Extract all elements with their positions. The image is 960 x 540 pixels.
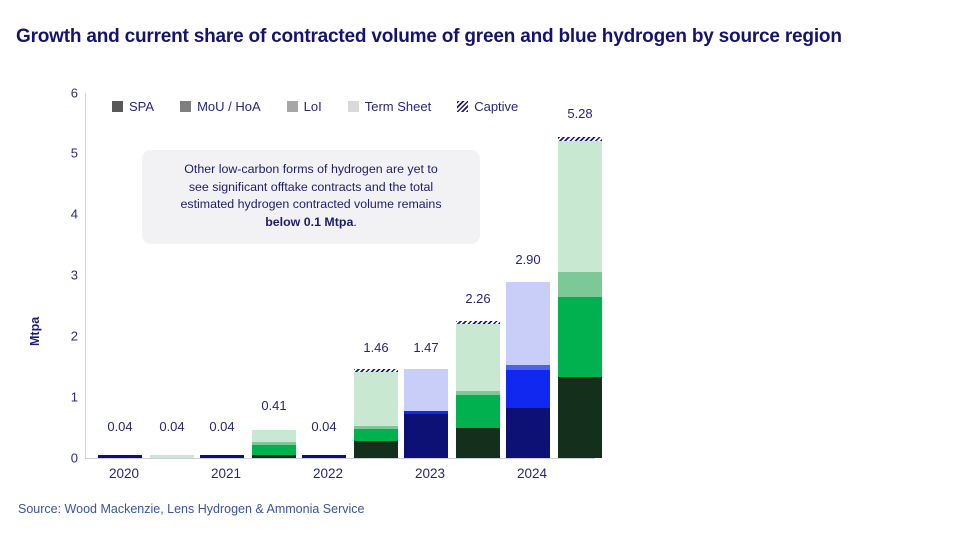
bar-segment-mou-hoa[interactable] <box>456 395 500 428</box>
bar-segment-mou-hoa[interactable] <box>252 445 296 455</box>
bar-segment-term-sheet[interactable] <box>404 369 448 411</box>
page-title: Growth and current share of contracted v… <box>16 24 906 49</box>
bar-segment-spa[interactable] <box>354 441 398 458</box>
bar-label-2024-blue: 2.90 <box>496 252 560 267</box>
x-label-2023: 2023 <box>380 466 480 481</box>
bar-segment-spa[interactable] <box>506 408 550 458</box>
bar-2024-blue[interactable] <box>506 282 550 458</box>
bar-segment-spa[interactable] <box>558 377 602 458</box>
bar-segment-term-sheet[interactable] <box>354 372 398 426</box>
bar-segment-term-sheet[interactable] <box>456 324 500 392</box>
bar-segment-mou-hoa[interactable] <box>506 370 550 408</box>
bar-segment-mou-hoa[interactable] <box>354 429 398 441</box>
bar-segment-spa[interactable] <box>302 455 346 458</box>
bar-2021-green[interactable] <box>252 430 296 458</box>
x-label-2022: 2022 <box>278 466 378 481</box>
bar-segment-term-sheet[interactable] <box>506 282 550 365</box>
bar-label-2022-blue: 0.04 <box>292 419 356 434</box>
bar-segment-term-sheet[interactable] <box>558 141 602 272</box>
bar-2023-green[interactable] <box>456 321 500 458</box>
bar-2022-green[interactable] <box>354 369 398 458</box>
chart-plot-area: SPA MoU / HoA LoI Term Sheet Captive Mtp… <box>0 88 960 478</box>
bar-segment-spa[interactable] <box>200 455 244 458</box>
bar-segment-spa[interactable] <box>98 455 142 458</box>
bar-segment-loi[interactable] <box>558 272 602 297</box>
x-axis-line <box>85 458 595 459</box>
bar-segment-spa[interactable] <box>404 414 448 458</box>
bar-2024-green[interactable] <box>558 137 602 458</box>
bar-label-2024-green: 5.28 <box>548 106 612 121</box>
bar-segment-mou-hoa[interactable] <box>558 297 602 377</box>
bar-segment-spa[interactable] <box>252 455 296 458</box>
bar-2021-blue[interactable] <box>200 455 244 458</box>
bar-label-2021-green: 0.41 <box>242 398 306 413</box>
x-label-2024: 2024 <box>482 466 582 481</box>
bar-segment-term-sheet[interactable] <box>252 430 296 443</box>
bar-label-2023-green: 2.26 <box>446 291 510 306</box>
bar-label-2021-blue: 0.04 <box>190 419 254 434</box>
bar-2020-blue[interactable] <box>98 455 142 458</box>
bar-2023-blue[interactable] <box>404 369 448 458</box>
bar-2022-blue[interactable] <box>302 455 346 458</box>
x-label-2021: 2021 <box>176 466 276 481</box>
bar-segment-spa[interactable] <box>456 428 500 458</box>
x-label-2020: 2020 <box>74 466 174 481</box>
bars-container: 0.04 0.04 0.04 0.41 0.04 1.46 1.47 2.26 … <box>0 88 960 458</box>
bar-2020-green[interactable] <box>150 455 194 458</box>
source-note: Source: Wood Mackenzie, Lens Hydrogen & … <box>18 502 364 516</box>
bar-label-2023-blue: 1.47 <box>394 340 458 355</box>
bar-segment-term-sheet[interactable] <box>150 455 194 458</box>
